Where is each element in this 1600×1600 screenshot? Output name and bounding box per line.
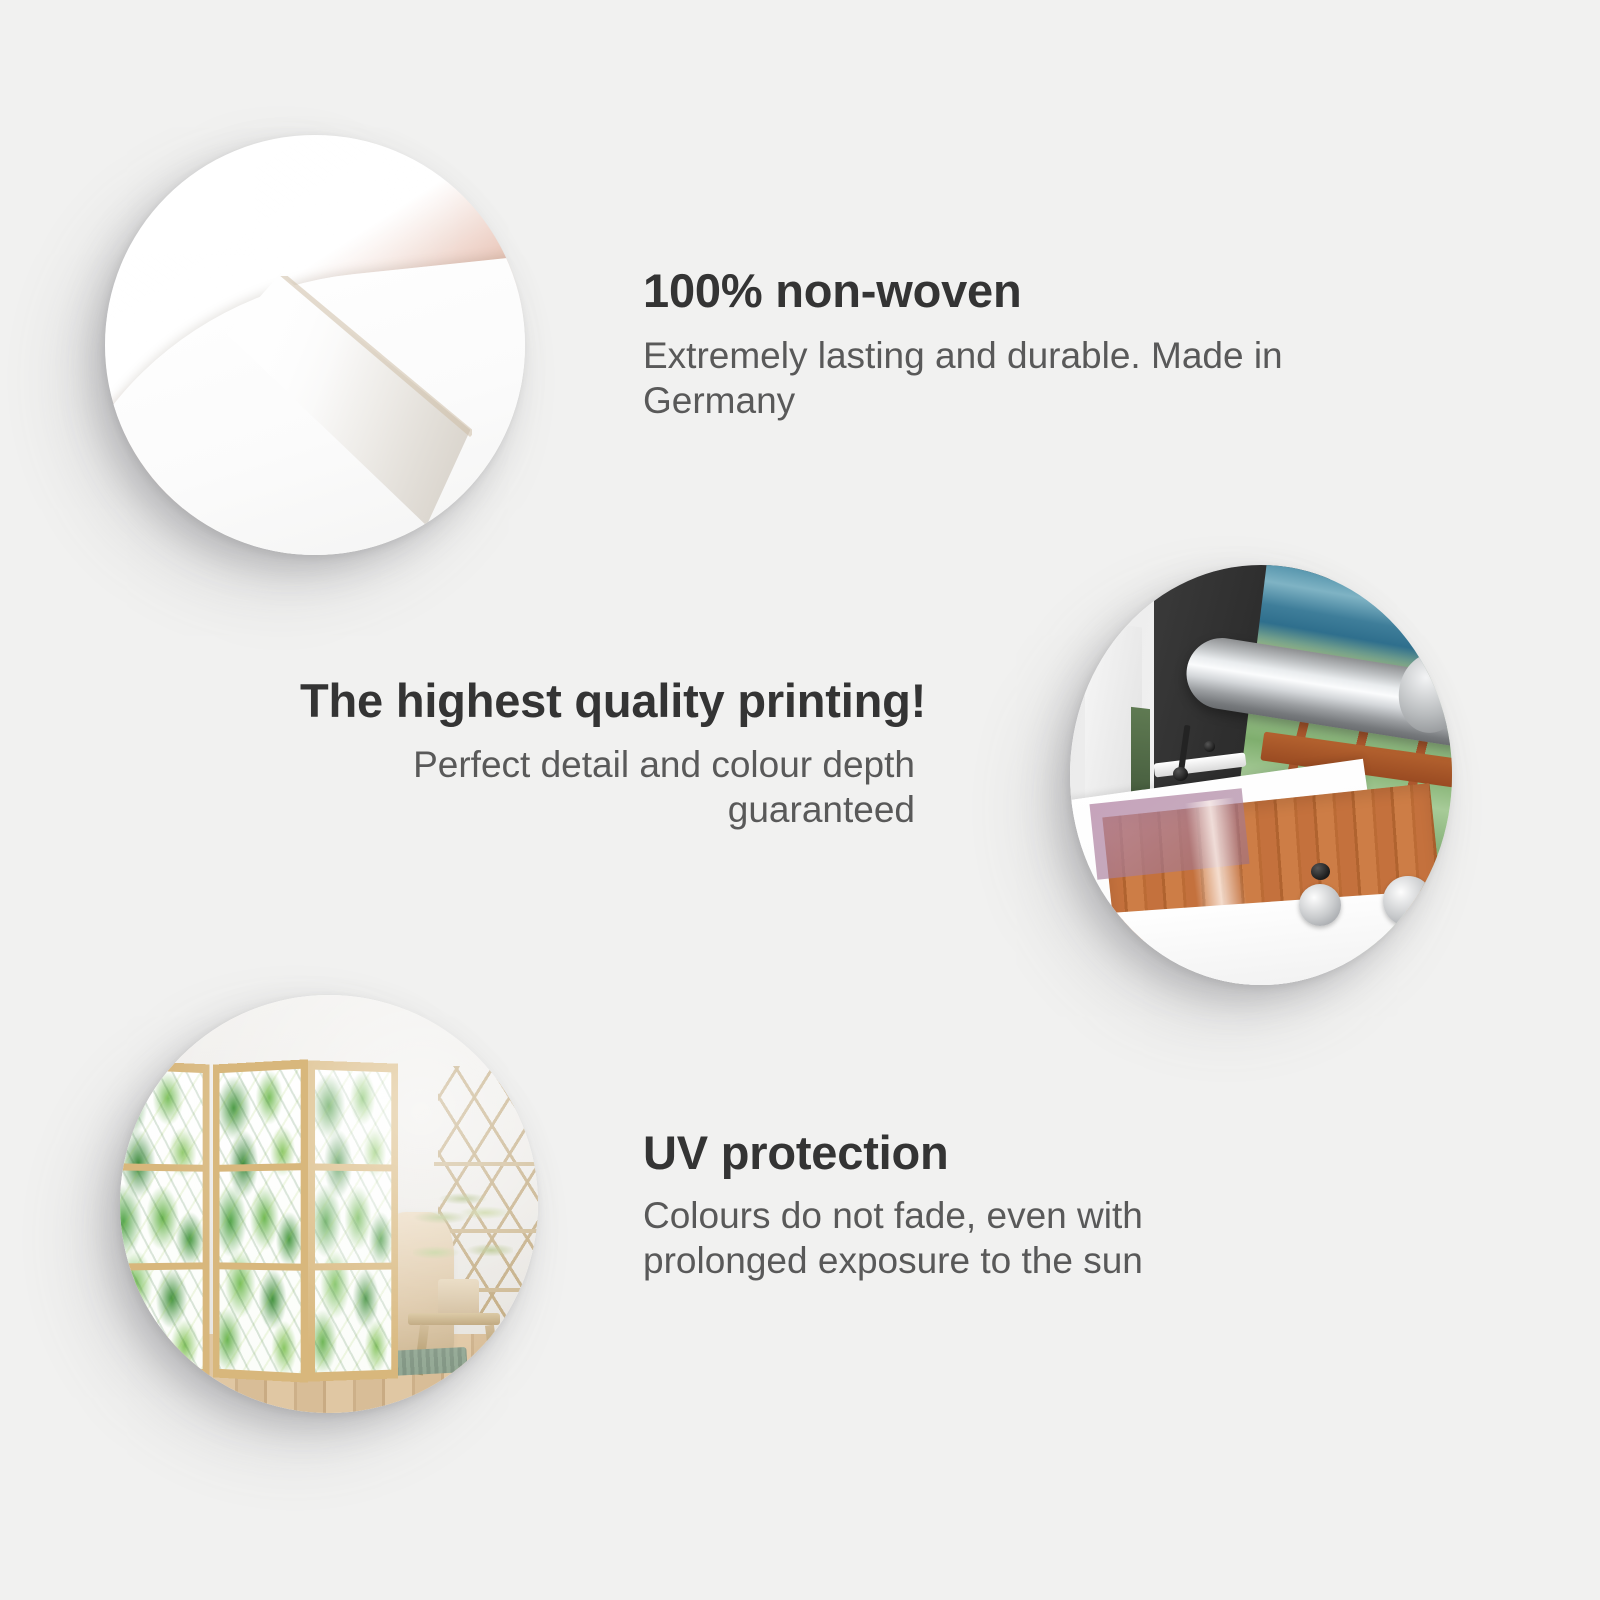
feature-description-printing: Perfect detail and colour depth guarante… <box>300 742 915 832</box>
feature-description-non-woven: Extremely lasting and durable. Made in G… <box>643 333 1303 423</box>
divider-panel <box>213 1059 308 1382</box>
feature-title-non-woven: 100% non-woven <box>643 266 1303 316</box>
tropical-room-divider-photo <box>120 995 538 1413</box>
feature-description-uv-protection: Colours do not fade, even with prolonged… <box>643 1193 1183 1283</box>
feature-text-printing: The highest quality printing! Perfect de… <box>300 676 915 832</box>
infographic-canvas: 100% non-woven Extremely lasting and dur… <box>0 0 1600 1600</box>
feature-title-uv-protection: UV protection <box>643 1128 1183 1178</box>
feature-image-uv-protection <box>120 995 538 1413</box>
feature-text-uv-protection: UV protection Colours do not fade, even … <box>643 1128 1183 1283</box>
feed-wheel <box>1383 876 1433 926</box>
press-knob <box>1311 863 1330 880</box>
feature-text-non-woven: 100% non-woven Extremely lasting and dur… <box>643 266 1303 423</box>
feature-image-non-woven <box>105 135 525 555</box>
panel-cross-rail <box>220 1163 301 1172</box>
tropical-leaf-pattern <box>220 1069 301 1373</box>
room-light-wash <box>120 995 538 1413</box>
peeling-wallpaper-photo <box>105 135 525 555</box>
feature-title-printing: The highest quality printing! <box>300 676 915 726</box>
printing-press-photo <box>1070 565 1452 985</box>
panel-cross-rail <box>220 1262 301 1270</box>
feature-image-printing <box>1070 565 1452 985</box>
